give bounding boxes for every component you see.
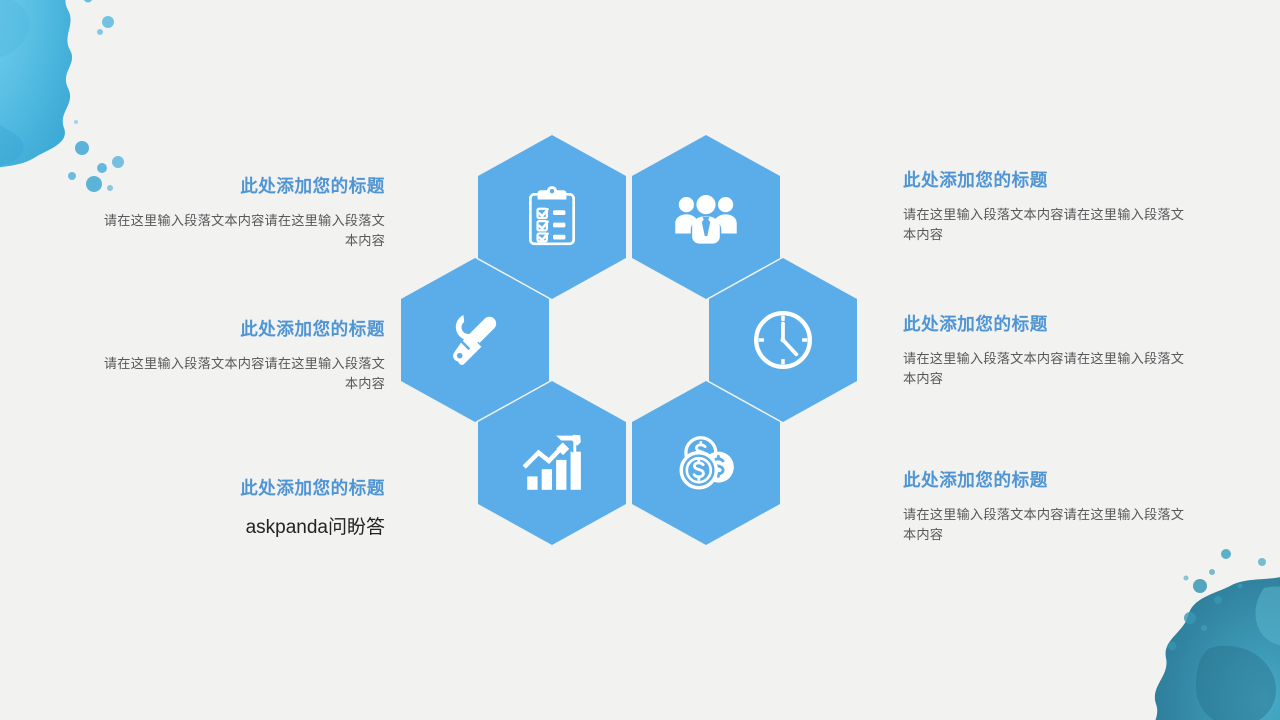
clipboard-checklist-icon bbox=[519, 184, 585, 250]
hexagon-cluster bbox=[398, 132, 876, 572]
money-coins-icon bbox=[673, 430, 739, 496]
text-block-left-2: 此处添加您的标题 请在这里输入段落文本内容请在这里输入段落文本内容 bbox=[95, 319, 385, 395]
block-title: 此处添加您的标题 bbox=[903, 170, 1193, 191]
watercolor-splash-top-left bbox=[0, 0, 142, 196]
people-group-icon bbox=[673, 184, 739, 250]
block-title: 此处添加您的标题 bbox=[903, 314, 1193, 335]
block-title: 此处添加您的标题 bbox=[95, 176, 385, 197]
slide-canvas: 此处添加您的标题 请在这里输入段落文本内容请在这里输入段落文本内容 此处添加您的… bbox=[0, 0, 1280, 720]
text-block-left-3: 此处添加您的标题 askpanda问盼答 bbox=[95, 478, 385, 542]
block-body: 请在这里输入段落文本内容请在这里输入段落文本内容 bbox=[903, 505, 1193, 546]
text-block-left-1: 此处添加您的标题 请在这里输入段落文本内容请在这里输入段落文本内容 bbox=[95, 176, 385, 252]
block-title: 此处添加您的标题 bbox=[95, 478, 385, 499]
block-body: 请在这里输入段落文本内容请在这里输入段落文本内容 bbox=[95, 354, 385, 395]
block-body: 请在这里输入段落文本内容请在这里输入段落文本内容 bbox=[903, 205, 1193, 246]
watercolor-splash-bottom-right bbox=[1114, 528, 1280, 720]
block-title: 此处添加您的标题 bbox=[903, 470, 1193, 491]
block-body: 请在这里输入段落文本内容请在这里输入段落文本内容 bbox=[95, 211, 385, 252]
brand-text: askpanda问盼答 bbox=[95, 513, 385, 542]
block-body: 请在这里输入段落文本内容请在这里输入段落文本内容 bbox=[903, 349, 1193, 390]
text-block-right-2: 此处添加您的标题 请在这里输入段落文本内容请在这里输入段落文本内容 bbox=[903, 314, 1193, 390]
clock-icon bbox=[750, 307, 816, 373]
growth-bar-chart-icon bbox=[519, 430, 585, 496]
block-title: 此处添加您的标题 bbox=[95, 319, 385, 340]
tools-wrench-screwdriver-icon bbox=[442, 307, 508, 373]
text-block-right-1: 此处添加您的标题 请在这里输入段落文本内容请在这里输入段落文本内容 bbox=[903, 170, 1193, 246]
text-block-right-3: 此处添加您的标题 请在这里输入段落文本内容请在这里输入段落文本内容 bbox=[903, 470, 1193, 546]
